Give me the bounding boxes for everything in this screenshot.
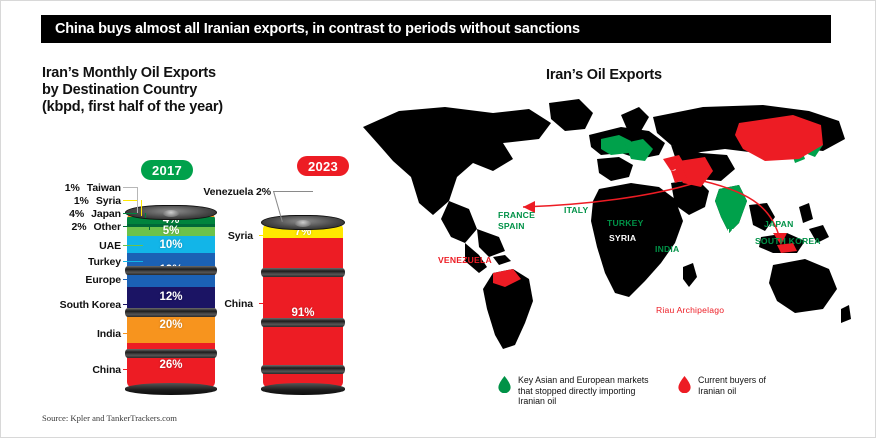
barrel-rib-3 [125,349,217,358]
barrel-2017-label-name: India [97,328,121,340]
legend-text-red: Current buyers of Iranian oil [698,375,766,396]
barrel-2017-label-name: Turkey [88,256,121,268]
barrel-2023-label-china: China [201,298,253,310]
barrel-2023-leader-line [259,303,269,304]
headline-text: China buys almost all Iranian exports, i… [41,21,580,37]
barrel-2017-label-name: South Korea [60,299,121,311]
barrel-base [261,383,345,395]
barrel-rib-1 [125,266,217,275]
map-label-south-korea: SOUTH KOREA [755,236,821,246]
map-label-riau-archipelago: Riau Archipelago [656,305,724,315]
barrel-lid [125,205,217,220]
barrel-2017-leader-hook [145,213,146,218]
map-label-venezuela: VENEZUELA [438,255,492,265]
barrel-2017-leader-line [123,213,137,214]
year-badge-2023: 2023 [297,156,349,176]
barrel-2017-label-name: Taiwan [87,182,121,194]
barrel-2017-label-pct: 2% [71,221,93,233]
barrel-2017-label-taiwan: 1%Taiwan [35,182,121,194]
map-label-syria: SYRIA [609,233,636,243]
barrel-base [125,383,217,395]
barrel-2017-leader-line [123,187,137,188]
barrel-2023-label-syria: Syria [201,230,253,242]
barrel-2017-label-china: China [35,364,121,376]
left-chart-title-line: by Destination Country [42,82,302,99]
barrel-rib-1 [261,268,345,277]
source-note: Source: Kpler and TankerTrackers.com [42,413,177,423]
barrel-2017-label-pct: 1% [65,182,87,194]
barrel-2017-label-turkey: Turkey [35,256,121,268]
map-label-turkey: TURKEY [607,218,644,228]
barrel-body: 7%91% [263,223,343,388]
left-chart-title-line: Iran’s Monthly Oil Exports [42,65,302,82]
barrel-2017-leader-hook [141,200,142,216]
barrel-2017-leader-line [123,200,137,201]
map-label-japan: JAPAN [764,219,794,229]
barrel-2017-label-south-korea: South Korea [35,299,121,311]
barrel-2023-label-venezuela-: Venezuela 2% [201,186,271,198]
barrel-2017-label-name: UAE [99,240,121,252]
barrel-rib-2 [261,318,345,327]
map-label-france: FRANCE [498,210,535,220]
barrel-rib-3 [261,365,345,374]
barrel-2017-label-other: 2%Other [35,221,121,233]
barrel-lid [261,215,345,230]
year-badge-2017: 2017 [141,160,193,180]
barrel-2017-label-name: Japan [91,208,121,220]
barrel-2017-label-syria: 1%Syria [35,195,121,207]
barrel-2023-leader-line [259,235,271,236]
barrel-2023-leader-line [273,191,313,192]
green-droplet-icon [498,376,511,393]
map-label-italy: ITALY [564,205,588,215]
barrel-2017-label-uae: UAE [35,240,121,252]
barrel-2017-label-name: China [92,364,121,376]
barrel-2017-leader-line [123,304,143,305]
barrel-2017-leader-line [123,245,143,246]
left-chart-title-line: (kbpd, first half of the year) [42,99,302,116]
barrel-2017-label-pct: 1% [74,195,96,207]
right-map-title: Iran’s Oil Exports [546,67,662,83]
barrel-2017-label-name: Syria [96,195,121,207]
red-droplet-icon [678,376,691,393]
barrel-2017-label-pct: 4% [69,208,91,220]
country-india [715,185,747,233]
headline-bar: China buys almost all Iranian exports, i… [41,15,831,43]
legend-item-green: Key Asian and European markets that stop… [498,375,673,407]
legend-item-red: Current buyers of Iranian oil [678,375,838,396]
map-label-spain: SPAIN [498,221,525,231]
barrel-2017-leader-line [123,261,143,262]
left-chart-title: Iran’s Monthly Oil Exportsby Destination… [42,65,302,116]
barrel-2017-leader-line [123,369,143,370]
barrel-2017-leader-hook [149,226,150,230]
world-map: FRANCE SPAIN ITALY TURKEY SYRIA INDIA CH… [353,97,853,357]
barrel-2017-label-name: Europe [85,274,121,286]
barrel-2023: 7%91% [263,223,343,388]
barrel-2017-label-japan: 4%Japan [35,208,121,220]
map-label-china: CHINA [708,227,736,237]
barrel-2017-label-name: Other [93,221,121,233]
barrel-2017-leader-line [123,333,143,334]
barrel-2017-leader-line [123,279,143,280]
barrel-2017-leader-line [123,226,137,227]
barrel-2017-label-europe: Europe [35,274,121,286]
barrel-2017-leader-hook [137,187,138,213]
map-label-india: INDIA [655,244,679,254]
barrel-2017-label-india: India [35,328,121,340]
barrel-segment-value: 20% [127,319,215,331]
legend-text-green: Key Asian and European markets that stop… [518,375,649,407]
